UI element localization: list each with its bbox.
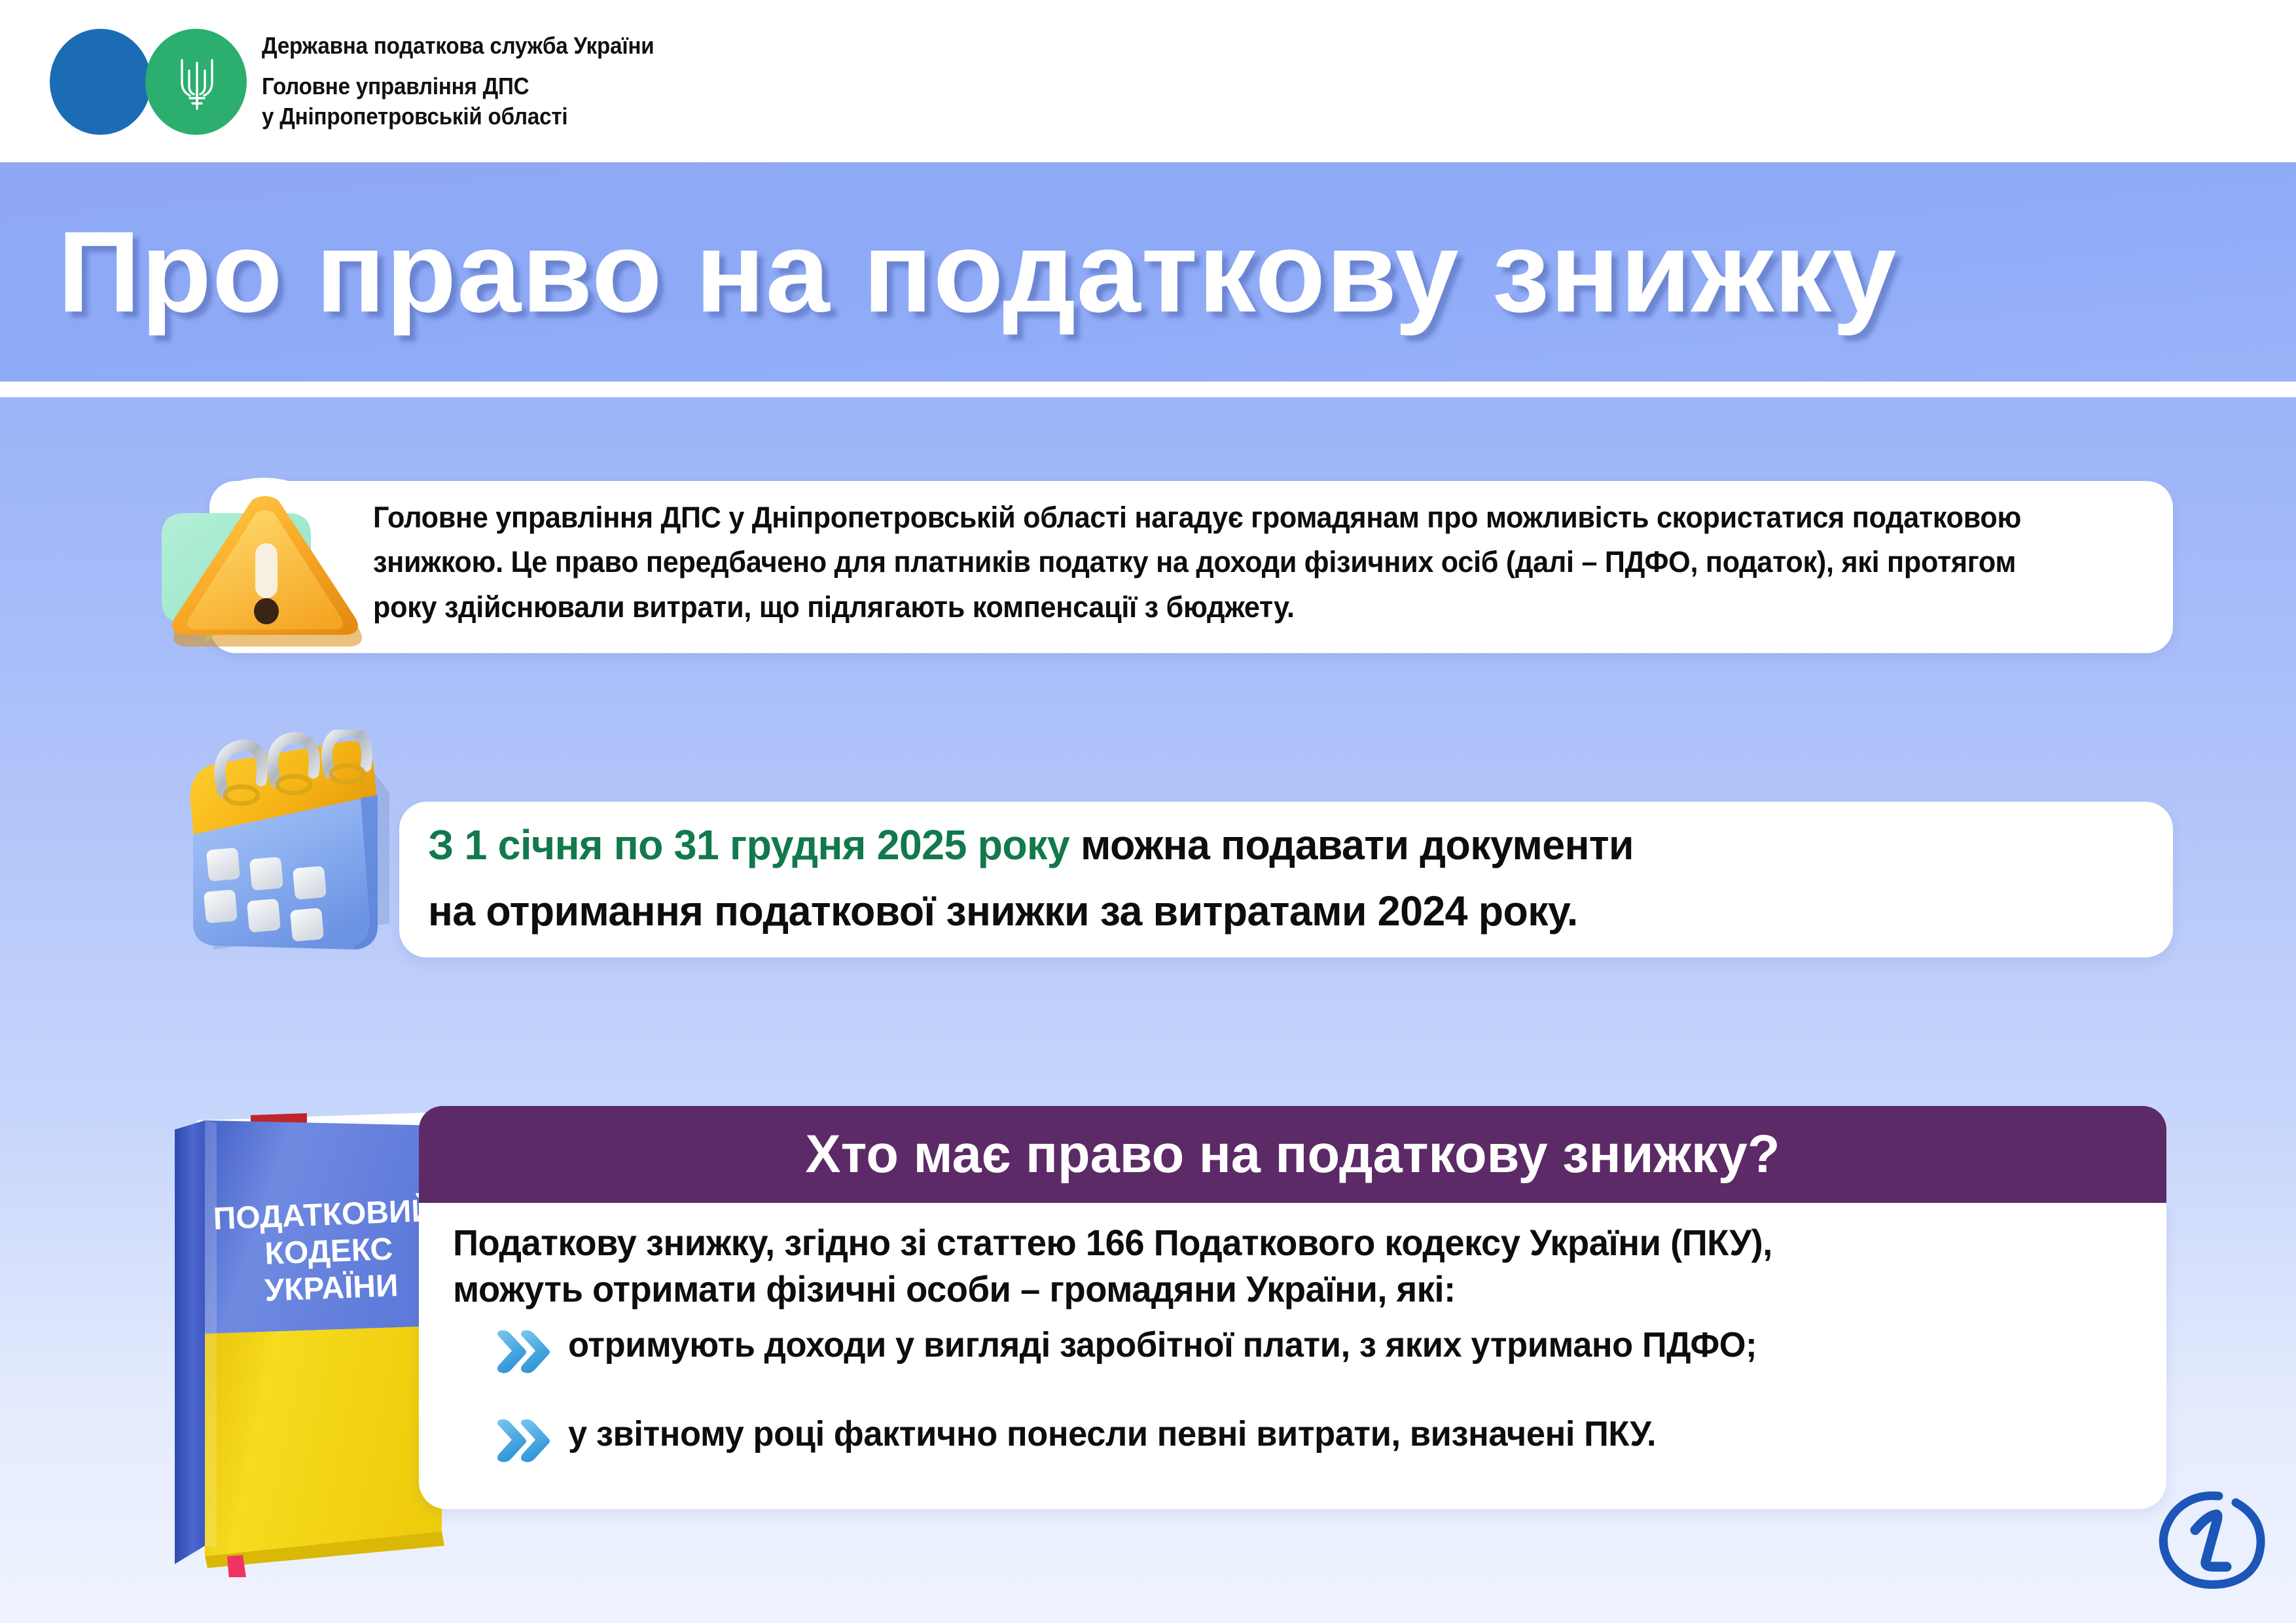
title-banner: Про право на податкову знижку (0, 162, 2296, 382)
bullet-text-2: у звітному році фактично понесли певні в… (568, 1415, 1656, 1454)
period-highlight: З 1 січня по 31 грудня 2025 року (428, 821, 1069, 868)
svg-text:КОДЕКС: КОДЕКС (264, 1232, 393, 1271)
banner-separator (0, 382, 2296, 397)
who-intro: Податкову знижку, згідно зі статтею 166 … (453, 1220, 2091, 1312)
period-line2: на отримання податкової знижки за витрат… (428, 887, 1578, 935)
list-item: отримують доходи у вигляді заробітної пл… (496, 1326, 2145, 1374)
page-number-badge: 1 (2153, 1486, 2271, 1597)
who-intro-line2: можуть отримати фізичні особи – громадян… (453, 1268, 1456, 1310)
who-section-banner: Хто має право на податкову знижку? (419, 1106, 2166, 1203)
page-title: Про право на податкову знижку (0, 215, 1897, 330)
period-rest: можна подавати документи (1069, 821, 1634, 868)
tax-code-book-icon: ПОДАТКОВИЙ КОДЕКС УКРАЇНИ (167, 1106, 448, 1577)
list-item: у звітному році фактично понесли певні в… (496, 1415, 2145, 1463)
logo-blue-ellipse-icon (50, 29, 151, 135)
period-card-text: З 1 січня по 31 грудня 2025 року можна п… (428, 812, 2121, 944)
dps-logo (41, 22, 257, 140)
who-intro-line1: Податкову знижку, згідно зі статтею 166 … (453, 1222, 1772, 1263)
calendar-icon (173, 730, 448, 965)
double-chevron-icon (496, 1416, 552, 1463)
intro-card: Головне управління ДПС у Дніпропетровськ… (209, 481, 2173, 653)
ukraine-trident-icon (174, 51, 220, 114)
period-card: З 1 січня по 31 грудня 2025 року можна п… (399, 802, 2173, 957)
bullet-text-1: отримують доходи у вигляді заробітної пл… (568, 1326, 1757, 1364)
warning-triangle-icon (147, 473, 363, 669)
org-line-2: Головне управління ДПС (262, 75, 654, 98)
svg-text:УКРАЇНИ: УКРАЇНИ (264, 1268, 399, 1308)
org-title-block: Державна податкова служба України Головн… (262, 34, 689, 128)
who-section-title: Хто має право на податкову знижку? (806, 1124, 1780, 1185)
org-line-3: у Дніпропетровській області (262, 105, 654, 128)
intro-card-text: Головне управління ДПС у Дніпропетровськ… (373, 495, 2070, 630)
org-line-1: Державна податкова служба України (262, 34, 654, 58)
who-card: Податкову знижку, згідно зі статтею 166 … (419, 1203, 2166, 1509)
double-chevron-icon (496, 1327, 552, 1374)
page-header: Державна податкова служба України Головн… (0, 0, 2296, 162)
